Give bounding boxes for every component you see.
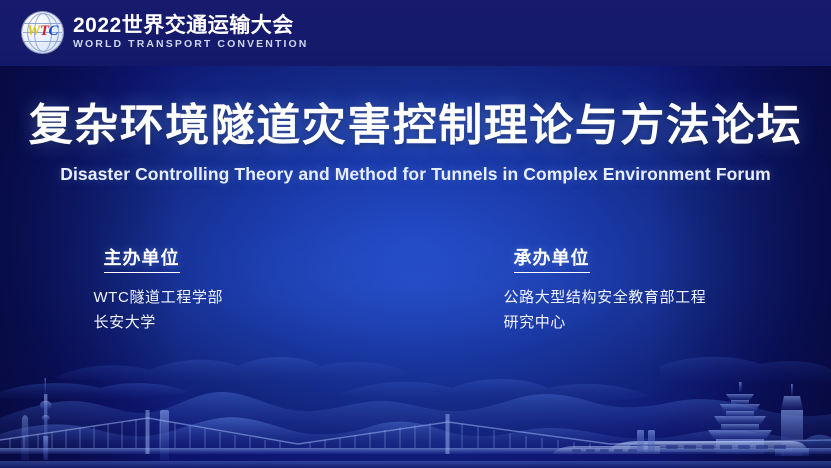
forum-title-en: Disaster Controlling Theory and Method f… [0,163,831,185]
organizer-column-organizer: 承办单位 公路大型结构安全教育部工程 研究中心 [496,246,746,335]
wtc-letter-t: T [40,23,49,39]
forum-title-cn: 复杂环境隧道灾害控制理论与方法论坛 [0,100,831,152]
organizer-line-1: 公路大型结构安全教育部工程 [504,285,746,310]
wtc-letter-c: C [49,23,59,39]
host-heading: 主办单位 [104,246,180,273]
host-line-1: WTC隧道工程学部 [94,285,336,310]
wtc-letter-w: W [27,23,40,39]
globe-icon: WTC [22,12,63,53]
banner-stage: WTC 2022世界交通运输大会 WORLD TRANSPORT CONVENT… [0,0,831,468]
title-block: 复杂环境隧道灾害控制理论与方法论坛 Disaster Controlling T… [0,100,831,185]
organizer-line-2: 研究中心 [504,310,746,335]
organizer-column-host: 主办单位 WTC隧道工程学部 长安大学 [86,246,336,335]
background-gradient [0,0,831,468]
baseline-bar [0,461,831,468]
organizers-section: 主办单位 WTC隧道工程学部 长安大学 承办单位 公路大型结构安全教育部工程 研… [0,246,831,335]
header-logo-lockup: WTC 2022世界交通运输大会 WORLD TRANSPORT CONVENT… [22,12,308,53]
host-line-2: 长安大学 [94,310,336,335]
organizer-heading: 承办单位 [514,246,590,273]
header-title-cn: 2022世界交通运输大会 [73,15,308,37]
globe-parallel-bottom [23,41,62,42]
organizer-heading-wrap: 承办单位 [504,246,746,285]
header-bar: WTC 2022世界交通运输大会 WORLD TRANSPORT CONVENT… [0,0,831,66]
wtc-letters: WTC [22,23,63,39]
host-heading-wrap: 主办单位 [94,246,336,285]
header-title-en: WORLD TRANSPORT CONVENTION [73,38,308,50]
header-text-block: 2022世界交通运输大会 WORLD TRANSPORT CONVENTION [73,15,308,50]
